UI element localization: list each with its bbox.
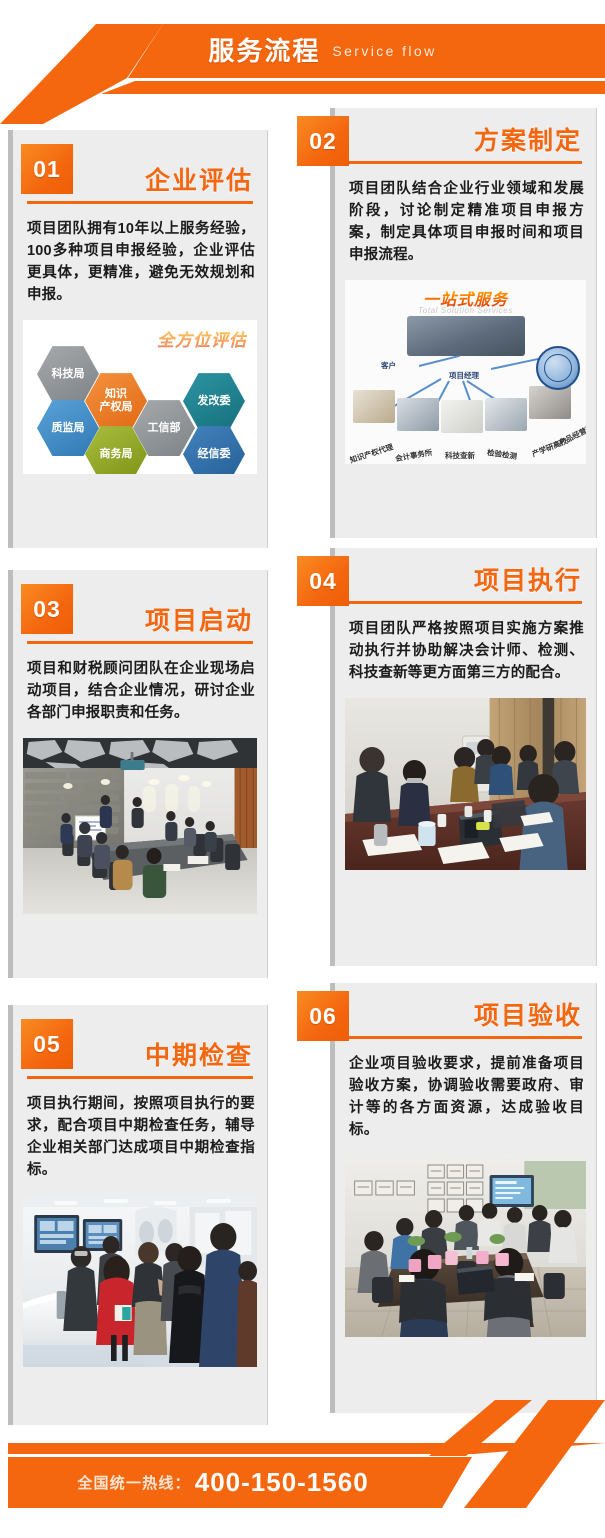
card-05-number-badge: 05 — [21, 1019, 73, 1069]
card-05-body: 项目执行期间，按照项目执行的要求，配合项目中期检查任务，辅导企业相关部门达成项目… — [13, 1079, 267, 1191]
onestop-thumb-3 — [485, 398, 527, 431]
header-title-group: 服务流程 Service flow — [0, 24, 605, 78]
onestop-hub-label-1: 项目经理 — [449, 370, 479, 381]
card-03-number-badge: 03 — [21, 584, 73, 634]
onestop-thumb-4 — [529, 386, 571, 419]
hotline-group: 全国统一热线： 400-150-1560 — [8, 1457, 438, 1508]
hex-node-5-label: 发改委 — [198, 395, 231, 408]
hex-node-6: 经信委 — [183, 426, 245, 474]
hex-node-5: 发改委 — [183, 373, 245, 429]
card-02-title: 方案制定 — [474, 126, 582, 156]
onestop-arrow-0 — [419, 355, 460, 367]
card-02-number-badge: 02 — [297, 116, 349, 166]
onestop-thumb-2 — [441, 400, 483, 433]
card-04-number-badge: 04 — [297, 556, 349, 606]
hexagon-evaluation-figure: 全方位评估 科技局 知识 产权局 质监局 商务局 — [23, 320, 257, 474]
card-02[interactable]: 02 方案制定 项目团队结合企业行业领域和发展阶段，讨论制定精准项目申报方案，制… — [330, 108, 597, 538]
card-04-body: 项目团队严格按照项目实施方案推动执行并协助解决会计师、检测、科技查新等更方面第三… — [335, 604, 596, 694]
card-05[interactable]: 05 中期检查 项目执行期间，按照项目执行的要求，配合项目中期检查任务，辅导企业… — [8, 1005, 268, 1425]
card-04[interactable]: 04 项目执行 项目团队严格按照项目实施方案推动执行并协助解决会计师、检测、科技… — [330, 548, 597, 966]
onestop-branch-1: 会计事务所 — [394, 447, 433, 464]
hex-node-6-label: 经信委 — [198, 448, 231, 461]
onestop-hub-photo — [407, 316, 525, 356]
card-01-title: 企业评估 — [145, 166, 253, 196]
onestop-branch-5: 产品经营服务 — [557, 419, 586, 449]
onestop-branch-captions: 知识产权代理 会计事务所 科技查新 检验检测 产学研高校 产品经营服务 — [345, 439, 586, 461]
card-01-media: 全方位评估 科技局 知识 产权局 质监局 商务局 — [23, 320, 257, 474]
card-04-photo — [345, 698, 586, 870]
hex-node-1-label: 知识 产权局 — [100, 388, 133, 413]
onestop-thumb-1 — [397, 398, 439, 431]
card-06-photo — [345, 1155, 586, 1337]
page-title: 服务流程 — [208, 38, 320, 64]
page-subtitle: Service flow — [332, 44, 436, 58]
hotline-number[interactable]: 400-150-1560 — [195, 1467, 369, 1498]
card-05-title: 中期检查 — [145, 1041, 253, 1071]
hex-node-2-label: 质监局 — [52, 422, 85, 435]
card-06-media — [345, 1155, 586, 1337]
card-06[interactable]: 06 项目验收 企业项目验收要求，提前准备项目验收方案，协调验收需要政府、审计等… — [330, 983, 597, 1413]
onestop-branch-2: 科技查新 — [445, 450, 475, 461]
card-02-title-wrap: 方案制定 — [335, 108, 596, 164]
card-05-media — [23, 1195, 257, 1367]
infographic-page: 服务流程 Service flow 01 企业评估 项目团队拥有10年以上服务经… — [0, 0, 605, 1538]
hex-node-0-label: 科技局 — [52, 368, 85, 381]
onestop-certification-seal — [536, 346, 580, 390]
onestop-hub-label-0: 客户 — [381, 360, 396, 371]
card-01-number-badge: 01 — [21, 144, 73, 194]
card-05-photo — [23, 1195, 257, 1367]
hexfig-title: 全方位评估 — [157, 326, 247, 351]
card-01-body: 项目团队拥有10年以上服务经验，100多种项目申报经验，企业评估更具体，更精准，… — [13, 204, 267, 316]
card-03[interactable]: 03 项目启动 项目和财税顾问团队在企业现场启动项目，结合企业情况，研讨企业各部… — [8, 570, 268, 978]
onestop-thumb-0 — [353, 390, 395, 423]
card-03-body: 项目和财税顾问团队在企业现场启动项目，结合企业情况，研讨企业各部门申报职责和任务… — [13, 644, 267, 734]
card-03-media — [23, 738, 257, 914]
onestop-subtitle: Total Solution Services — [345, 306, 586, 315]
onestop-branch-3: 检验检测 — [486, 447, 517, 462]
card-04-title-wrap: 项目执行 — [335, 548, 596, 604]
card-06-number-badge: 06 — [297, 991, 349, 1041]
card-01[interactable]: 01 企业评估 项目团队拥有10年以上服务经验，100多种项目申报经验，企业评估… — [8, 130, 268, 548]
hex-node-3-label: 商务局 — [100, 448, 133, 461]
card-06-body: 企业项目验收要求，提前准备项目验收方案，协调验收需要政府、审计等的各方面资源，达… — [335, 1039, 596, 1151]
hotline-label: 全国统一热线： — [77, 1472, 190, 1493]
page-footer: 全国统一热线： 400-150-1560 — [0, 1400, 605, 1538]
card-02-body: 项目团队结合企业行业领域和发展阶段，讨论制定精准项目申报方案，制定具体项目申报时… — [335, 164, 596, 276]
card-04-title: 项目执行 — [474, 566, 582, 596]
card-03-photo — [23, 738, 257, 914]
card-06-title: 项目验收 — [474, 1001, 582, 1031]
hex-node-4-label: 工信部 — [148, 422, 181, 435]
card-03-title: 项目启动 — [145, 606, 253, 636]
page-header: 服务流程 Service flow — [0, 0, 605, 100]
card-06-title-wrap: 项目验收 — [335, 983, 596, 1039]
card-04-media — [345, 698, 586, 870]
one-stop-service-diagram: 一站式服务 Total Solution Services 客户 项目经理 — [345, 280, 586, 464]
onestop-branch-0: 知识产权代理 — [348, 441, 394, 464]
card-02-media: 一站式服务 Total Solution Services 客户 项目经理 — [345, 280, 586, 464]
